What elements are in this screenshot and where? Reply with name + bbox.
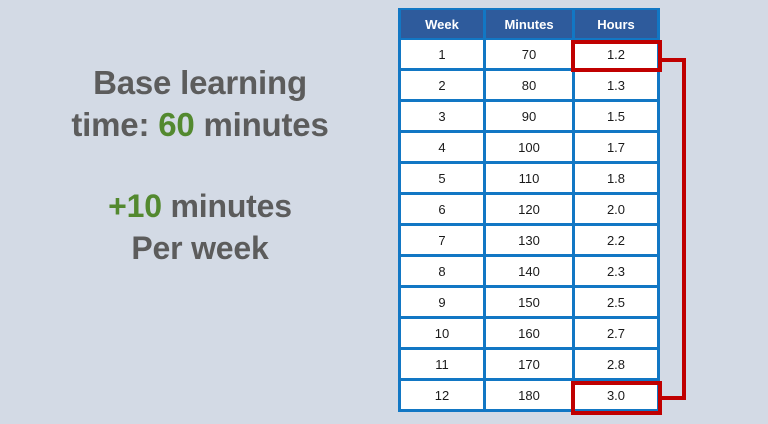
column-header-minutes: Minutes [484,8,573,39]
subline: +10 minutes Per week [12,186,388,269]
cell-minutes: 80 [484,70,573,101]
table-row: 3 90 1.5 [398,101,660,132]
subline-period: Per week [131,230,268,266]
cell-hours: 2.2 [573,225,660,256]
table-row: 10 160 2.7 [398,318,660,349]
table-body: 1 70 1.2 2 80 1.3 3 90 1.5 4 100 1.7 [398,39,660,412]
cell-week: 12 [398,380,484,412]
cell-week: 6 [398,194,484,225]
cell-hours: 1.7 [573,132,660,163]
cell-week: 11 [398,349,484,380]
subline-value: +10 [108,188,162,224]
cell-week: 5 [398,163,484,194]
headline-line2-prefix: time: [71,106,158,143]
cell-minutes: 140 [484,256,573,287]
table-row: 5 110 1.8 [398,163,660,194]
left-text-panel: Base learning time: 60 minutes +10 minut… [12,62,388,270]
cell-minutes: 180 [484,380,573,412]
cell-minutes: 120 [484,194,573,225]
table-row: 8 140 2.3 [398,256,660,287]
cell-minutes: 130 [484,225,573,256]
schedule-table: Week Minutes Hours 1 70 1.2 2 80 1.3 3 [398,8,660,412]
table-header-row: Week Minutes Hours [398,8,660,39]
cell-minutes: 90 [484,101,573,132]
subline-unit: minutes [162,188,292,224]
table-row: 2 80 1.3 [398,70,660,101]
cell-hours: 1.5 [573,101,660,132]
bracket-segment-spine [682,58,686,400]
cell-minutes: 110 [484,163,573,194]
cell-week: 4 [398,132,484,163]
data-table-wrapper: Week Minutes Hours 1 70 1.2 2 80 1.3 3 [398,8,660,412]
cell-week: 10 [398,318,484,349]
cell-week: 8 [398,256,484,287]
headline-line1: Base learning [93,64,307,101]
cell-hours: 2.7 [573,318,660,349]
headline: Base learning time: 60 minutes [12,62,388,146]
slide-canvas: Base learning time: 60 minutes +10 minut… [0,0,768,424]
table-row: 6 120 2.0 [398,194,660,225]
table-row: 11 170 2.8 [398,349,660,380]
cell-hours: 2.5 [573,287,660,318]
table-row: 12 180 3.0 [398,380,660,412]
cell-minutes: 100 [484,132,573,163]
bracket-segment-top [660,58,686,62]
cell-week: 7 [398,225,484,256]
cell-minutes: 150 [484,287,573,318]
table-row: 7 130 2.2 [398,225,660,256]
table-row: 9 150 2.5 [398,287,660,318]
table-row: 4 100 1.7 [398,132,660,163]
cell-week: 9 [398,287,484,318]
cell-hours: 1.2 [573,39,660,70]
cell-hours: 2.3 [573,256,660,287]
headline-value: 60 [158,106,194,143]
cell-hours: 3.0 [573,380,660,412]
column-header-week: Week [398,8,484,39]
cell-hours: 1.8 [573,163,660,194]
cell-minutes: 170 [484,349,573,380]
bracket-segment-bottom [660,396,686,400]
cell-week: 3 [398,101,484,132]
table-header: Week Minutes Hours [398,8,660,39]
cell-hours: 2.0 [573,194,660,225]
cell-minutes: 70 [484,39,573,70]
headline-line2-suffix: minutes [195,106,329,143]
column-header-hours: Hours [573,8,660,39]
cell-hours: 1.3 [573,70,660,101]
table-row: 1 70 1.2 [398,39,660,70]
cell-week: 2 [398,70,484,101]
cell-week: 1 [398,39,484,70]
cell-minutes: 160 [484,318,573,349]
cell-hours: 2.8 [573,349,660,380]
